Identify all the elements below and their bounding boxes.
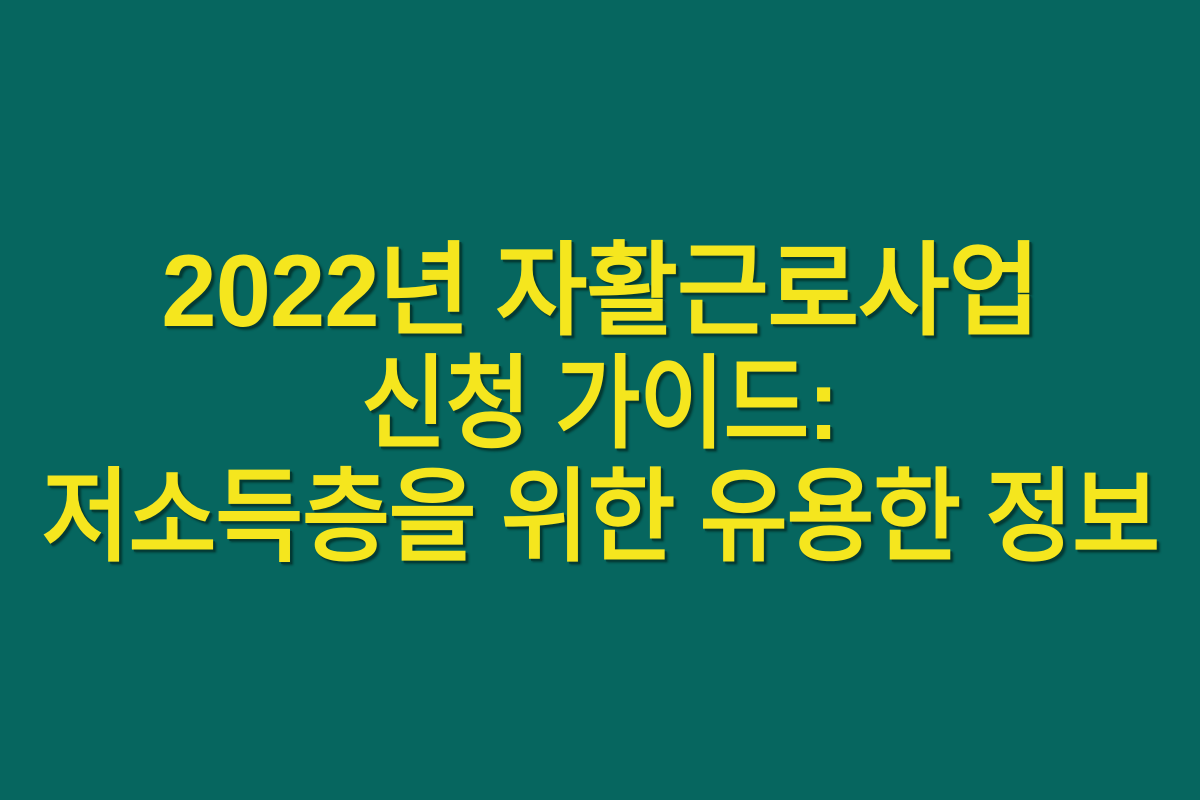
title-banner: 2022년 자활근로사업 신청 가이드: 저소득층을 위한 유용한 정보 xyxy=(0,0,1200,800)
title-line-1-text: 2022년 자활근로사업 xyxy=(161,231,1039,351)
page-title: 2022년 자활근로사업 신청 가이드: 저소득층을 위한 유용한 정보 xyxy=(0,235,1200,574)
title-line-1: 2022년 자활근로사업 xyxy=(0,235,1200,348)
title-line-2-text: 신청 가이드: xyxy=(361,344,838,464)
title-line-3-text: 저소득층을 위한 유용한 정보 xyxy=(41,457,1158,577)
title-line-3: 저소득층을 위한 유용한 정보 xyxy=(0,461,1200,574)
title-line-2: 신청 가이드: xyxy=(0,348,1200,461)
